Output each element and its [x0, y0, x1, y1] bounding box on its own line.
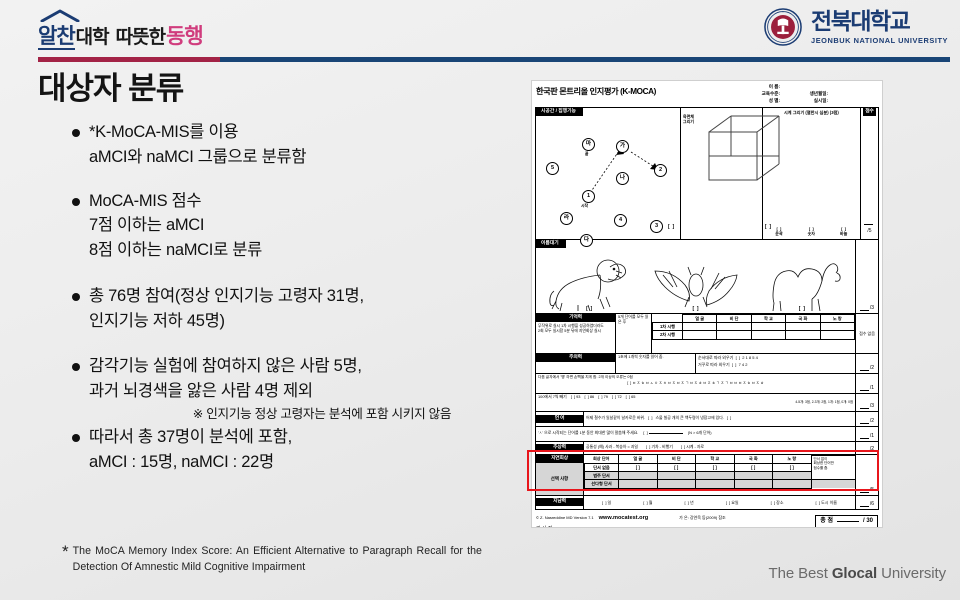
section-attention-tapping: 다음 글자에서 '땡' 하면 손뼉을 치게 함. 2개 이상의 오류는 0점 [… [536, 374, 878, 394]
clock-area: 시계 그리기 (열한시 십분) (3점) [ ]윤곽 [ ]숫자 [ ]바늘 [763, 108, 861, 239]
cube-area: 육면체 그리기 [ ] [681, 108, 763, 239]
abstraction-area: 공통성 (예) 사과 - 복숭아 = 과일 [ ] 기차 - 비행기 [ ] 시… [584, 442, 856, 454]
opt-cell[interactable] [619, 480, 658, 488]
memory-cell[interactable] [683, 331, 717, 339]
repetition-sentence-2: 스물 칠공 개의 큰 백두령이 냉장고에 있다. [655, 416, 723, 421]
opt-cell[interactable] [696, 472, 735, 480]
orientation-day: 일 [608, 500, 612, 505]
page-title: 대상자 분류 [38, 63, 183, 108]
section-header-language: 언 어 [536, 415, 583, 423]
table-row: 선다형 단서 [585, 480, 856, 488]
opt-cell[interactable] [619, 472, 658, 480]
moca-form-title: 한국판 몬트리올 인지평가 (K-MOCA) [536, 84, 750, 105]
memory-cell[interactable] [751, 323, 785, 331]
memory-cell[interactable] [786, 331, 820, 339]
score-column-repetition: /2 [856, 412, 878, 426]
attention-header-area: 주의력 [536, 354, 616, 373]
bullet-1-line-1: *K-MoCA-MIS를 이용 [89, 120, 306, 145]
score-column-serial: /3 [856, 394, 878, 411]
fluency-note: (N > 6개 단어) [688, 431, 712, 436]
digit-backward-label: 거꾸로 따라 외우기 [698, 362, 730, 367]
svg-text:★: ★ [782, 10, 784, 13]
bullet-3-line-1: 총 76명 참여(정상 인지기능 고령자 31명, [89, 284, 364, 309]
id-label-name: 이 름: [750, 84, 780, 90]
recall-row-label-2: 단서 없음 [585, 463, 619, 471]
score-serial: /3 [870, 403, 874, 409]
score-column-delayed-recall: /5 [856, 455, 878, 495]
bullet-3-line-2: 인지기능 저하 45명) [89, 309, 364, 334]
trail-node-ma: 마 [582, 138, 595, 151]
serial-93: 93 [576, 394, 580, 399]
moca-website[interactable]: www.mocatest.org [599, 515, 649, 522]
moca-form-header: 한국판 몬트리올 인지평가 (K-MOCA) 이 름: 교육수준:생년월일: 성… [532, 81, 882, 106]
moca-grid: 시공간 / 집행기능 1 2 3 4 5 가 나 다 라 마 끝 시작 [535, 107, 879, 510]
score-abstraction: /2 [870, 446, 874, 452]
abstraction-item-2: 기차 - 비행기 [651, 444, 672, 449]
tap-letters: ㅂ ㅈ ㅎ ㅂ ㅅ ㅇ ㅈ ㅊ ㅂ ㅈ ㅂ ㅈ ㄱ ㅂ ㅈ ㅎ ㅂ ㅈ ㅎ ㄱ … [632, 381, 763, 385]
memory-sub-2: 2회 모두 실시함 5분 뒤에 지연회상 실시 [538, 329, 613, 335]
tagline: The Best Glocal University [769, 565, 946, 582]
camel-drawing-icon [758, 253, 844, 311]
memory-cell[interactable] [683, 323, 717, 331]
memory-word-5: 노 랑 [820, 314, 854, 322]
moca-korean-credit: 가 은: 강연욱 등(2009) 참조 [679, 515, 726, 520]
clock-mark-outline: 윤곽 [775, 231, 782, 236]
table-row: 회상 단어 얼 굴 비 단 학 교 국 화 노 랑 단서 없이 회상한 단어만 … [585, 455, 856, 463]
orientation-area: [ ] 일 [ ] 월 [ ] 년 [ ] 요일 [ ] 장소 [ ] 도시 이… [584, 496, 856, 509]
section-language-fluency: 'ㅅ' 으로 시작되는 단어를 1분 동안 최대한 많이 말씀해 주세요. [ … [536, 427, 878, 442]
university-emblem-icon: ★ [764, 8, 802, 46]
naming-bracket-camel: [ ] [799, 306, 805, 312]
section-header-abstraction: 추상력 [536, 444, 583, 452]
optional-row-1[interactable]: 범주 단서 [585, 472, 619, 480]
bullet-item-4: 감각기능 실험에 참여하지 않은 사람 5명, 과거 뇌경색을 앓은 사람 4명… [72, 354, 522, 404]
memory-word-1: 얼 굴 [683, 314, 717, 322]
recall-bracket[interactable]: [ ] [696, 463, 735, 471]
score-delayed-recall: /5 [870, 487, 874, 493]
score-fluency: /1 [870, 433, 874, 439]
score-header: 점수 [863, 108, 876, 116]
repetition-sentence-1: 어제 철수가 일날같이 날카로운 바위. [586, 416, 645, 421]
tagline-post: University [877, 565, 946, 582]
recall-word-5: 노 랑 [773, 455, 812, 463]
footnote-text: The MoCA Memory Index Score: An Efficien… [73, 543, 482, 575]
table-row: 1차 시행 [653, 323, 855, 331]
digit-backward-values: 7 4 2 [739, 362, 748, 367]
digit-forward-values: 2 1 8 5 4 [742, 355, 758, 360]
score-column-abstraction: /2 [856, 442, 878, 454]
opt-cell[interactable] [734, 472, 773, 480]
university-name-en: JEONBUK NATIONAL UNIVERSITY [811, 36, 948, 45]
section-header-orientation: 지남력 [536, 498, 583, 506]
score-column-fluency: /1 [856, 427, 878, 441]
bullet-dot-icon [72, 129, 80, 137]
abstraction-example: 공통성 (예) 사과 - 복숭아 = 과일 [586, 445, 638, 450]
brand-donghaeng: 동행 [166, 20, 203, 50]
bullet-2-line-2: 7점 이하는 aMCI [89, 213, 262, 238]
naming-area: 이름대기 [536, 240, 856, 313]
memory-word-table: 얼 굴 비 단 학 교 국 화 노 랑 1차 시행 2차 시행 [652, 314, 856, 353]
recall-word-1: 얼 굴 [619, 455, 658, 463]
memory-cell[interactable] [717, 331, 751, 339]
bullet-5-line-1: 따라서 총 37명이 분석에 포함, [89, 425, 292, 450]
bullet-dot-icon [72, 363, 80, 371]
score-column-orientation: /6 [856, 496, 878, 509]
memory-word-2: 비 단 [717, 314, 751, 322]
serial-79: 79 [604, 394, 608, 399]
moca-id-fields: 이 름: 교육수준:생년월일: 성 별:실시일: [750, 84, 878, 105]
section-header-naming: 이름대기 [536, 240, 566, 249]
section-orientation: 지남력 [ ] 일 [ ] 월 [ ] 년 [ ] 요일 [ ] 장소 [ ] … [536, 496, 878, 509]
score-column-visuospatial: 점수 /5 [861, 108, 878, 239]
attention-instruction: 1초에 1개씩 숫자를 읽어 줌. [616, 354, 696, 373]
footnote: * The MoCA Memory Index Score: An Effici… [62, 543, 482, 575]
bullet-dot-icon [72, 293, 80, 301]
divider-left-segment [38, 57, 220, 62]
bat-drawing-icon [653, 259, 739, 311]
bullet-4-note: ※ 인지기능 정상 고령자는 분석에 포함 시키지 않음 [72, 406, 522, 423]
recall-word-4: 국 화 [734, 455, 773, 463]
moca-form-footer: © Z. Nasreddine MD Version 7.1 www.mocat… [532, 513, 882, 528]
memory-word-4: 국 화 [786, 314, 820, 322]
section-visuospatial: 시공간 / 집행기능 1 2 3 4 5 가 나 다 라 마 끝 시작 [536, 108, 878, 240]
naming-bracket-lion: [ ] [586, 306, 592, 312]
brand-ttatteuthan: 따뜻한 [116, 22, 165, 49]
serial-72: 72 [617, 394, 621, 399]
memory-instruction: 5개 단어를 모두 읽은 후 [616, 314, 651, 353]
brand-daehak: 대학 [76, 22, 109, 49]
serial-86: 86 [590, 394, 594, 399]
orientation-month: 월 [649, 500, 653, 505]
id-label-gender: 성 별: [750, 98, 780, 104]
serial-65: 65 [631, 394, 635, 399]
abstraction-item-3: 시계 - 자로 [686, 444, 704, 449]
recall-bracket[interactable]: [ ] [619, 463, 658, 471]
cube-label-line-2: 그리기 [683, 119, 694, 124]
side-note-3: 점수를 줌. [814, 466, 854, 470]
memory-trial-2[interactable]: 2차 시행 [653, 331, 683, 339]
university-name-kr: 전북대학교 [811, 9, 948, 33]
slide-body: *K-MoCA-MIS를 이용 aMCI와 naMCI 그룹으로 분류함 MoC… [72, 120, 522, 476]
delayed-recall-table: 회상 단어 얼 굴 비 단 학 교 국 화 노 랑 단서 없이 회상한 단어만 … [584, 455, 856, 495]
orientation-weekday: 요일 [731, 500, 738, 505]
clock-label: 시계 그리기 (열한시 십분) (3점) [765, 109, 858, 115]
score-orientation: /6 [870, 501, 874, 507]
note-line-2: 시키지 않음 [392, 407, 452, 421]
score-column-attention-digits: /2 [856, 354, 878, 373]
bullet-5-line-2: aMCI : 15명, naMCI : 22명 [89, 450, 292, 475]
score-attention-digits: /2 [870, 365, 874, 371]
section-naming: 이름대기 [536, 240, 878, 314]
bullet-dot-icon [72, 434, 80, 442]
opt-cell[interactable] [773, 480, 812, 488]
roof-icon [40, 9, 80, 22]
delayed-recall-header-area: 지연회상 선택 사항 [536, 455, 584, 495]
examiner-label: 검 사 자 [536, 526, 553, 528]
memory-cell[interactable] [751, 331, 785, 339]
university-logo: ★ 전북대학교 JEONBUK NATIONAL UNIVERSITY [764, 8, 948, 46]
bullet-item-3: 총 76명 참여(정상 인지기능 고령자 31명, 인지기능 저하 45명) [72, 284, 522, 334]
section-memory: 기억력 무작위로 실시 1차 시행을 성공하였더라도 2회 모두 실시함 5분 … [536, 314, 878, 354]
id-label-education: 교육수준: [750, 91, 780, 97]
section-header-attention: 주의력 [536, 354, 615, 362]
fluency-instruction: 'ㅅ' 으로 시작되는 단어를 1분 동안 최대한 많이 말씀해 주세요. [538, 431, 638, 436]
opt-cell[interactable] [773, 472, 812, 480]
recall-bracket[interactable]: [ ] [773, 463, 812, 471]
trail-node-ra: 라 [560, 212, 573, 225]
trail-node-4: 4 [614, 214, 627, 227]
bullet-2-line-1: MoCA-MIS 점수 [89, 189, 262, 214]
note-line-1: ※ 인지기능 정상 고령자는 분석에 포함 [193, 407, 389, 421]
recall-word-2: 비 단 [657, 455, 696, 463]
orientation-header-area: 지남력 [536, 496, 584, 509]
trail-node-2: 2 [654, 164, 667, 177]
language-header-area: 언 어 [536, 412, 584, 426]
memory-instruction-area: 기억력 무작위로 실시 1차 시행을 성공하였더라도 2회 모두 실시함 5분 … [536, 314, 616, 353]
score-visuospatial: /5 [867, 228, 871, 234]
bullet-4-line-2: 과거 뇌경색을 앓은 사람 4명 제외 [89, 379, 362, 404]
memory-cell[interactable] [786, 323, 820, 331]
table-row: 얼 굴 비 단 학 교 국 화 노 랑 [653, 314, 855, 322]
orientation-year: 년 [690, 500, 694, 505]
section-abstraction: 추상력 공통성 (예) 사과 - 복숭아 = 과일 [ ] 기차 - 비행기 [… [536, 442, 878, 455]
score-tapping: /1 [870, 385, 874, 391]
memory-trial-1[interactable]: 1차 시행 [653, 323, 683, 331]
opt-cell[interactable] [657, 480, 696, 488]
language-repetition-area: 어제 철수가 일날같이 날카로운 바위. [ ] 스물 칠공 개의 큰 백두령이… [584, 412, 856, 426]
section-header-memory: 기억력 [536, 314, 615, 322]
abstraction-header-area: 추상력 [536, 442, 584, 454]
score-column-tapping: /1 [856, 374, 878, 393]
bullet-item-5: 따라서 총 37명이 분석에 포함, aMCI : 15명, naMCI : 2… [72, 425, 522, 475]
score-repetition: /2 [870, 418, 874, 424]
serial-note: 4-5개: 3점, 2-3개: 2점, 1개: 1점, 0개: 0점 [538, 400, 853, 404]
total-score-box: 총 점 / 30 [815, 515, 878, 528]
attention-digit-span: 순서대로 따라 외우기 [ ] 2 1 8 5 4 거꾸로 따라 외우기 [ ]… [696, 354, 856, 373]
bullet-item-1: *K-MoCA-MIS를 이용 aMCI와 naMCI 그룹으로 분류함 [72, 120, 522, 170]
clock-mark-hands: 바늘 [840, 231, 847, 236]
trail-node-3: 3 [650, 220, 663, 233]
score-naming: /3 [870, 305, 874, 311]
id-label-birthdate: 생년월일: [784, 91, 828, 97]
total-score-max: / 30 [863, 518, 873, 526]
recall-bracket[interactable]: [ ] [734, 463, 773, 471]
score-memory: 점수 없음 [859, 331, 875, 336]
moca-form: 한국판 몬트리올 인지평가 (K-MOCA) 이 름: 교육수준:생년월일: 성… [531, 80, 883, 528]
serial-subtraction-area: 100에서 7씩 빼기 [ ] 93 [ ] 86 [ ] 79 [ ] 72 … [536, 394, 856, 411]
orientation-city: 도시 이름 [821, 500, 837, 505]
id-label-testdate: 실시일: [784, 98, 828, 104]
opt-cell[interactable] [696, 480, 735, 488]
footnote-marker: * [62, 543, 69, 560]
digit-forward-label: 순서대로 따라 외우기 [698, 355, 733, 360]
bullet-4-line-1: 감각기능 실험에 참여하지 않은 사람 5명, [89, 354, 362, 379]
trail-score-bracket: [ ] [668, 224, 674, 230]
memory-cell[interactable] [820, 331, 854, 339]
trail-node-na: 나 [616, 172, 629, 185]
title-divider [38, 57, 950, 62]
tagline-pre: The Best [769, 565, 832, 582]
section-delayed-recall: 지연회상 선택 사항 회상 단어 얼 굴 비 단 학 교 국 화 노 랑 단서 … [536, 455, 878, 496]
tagline-bold: Glocal [832, 565, 877, 582]
memory-cell[interactable] [717, 323, 751, 331]
recall-side-note: 단서 없이 회상한 단어만 점수를 줌. [811, 455, 855, 480]
bullet-dot-icon [72, 198, 80, 206]
trail-node-1: 1 [582, 190, 595, 203]
score-column-naming: /3 [856, 240, 878, 313]
total-score-label: 총 점 [820, 518, 833, 526]
recall-row-label-1: 회상 단어 [585, 455, 619, 463]
bullet-2-line-3: 8점 이하는 naMCI로 분류 [89, 238, 262, 263]
section-header-delayed-recall: 지연회상 [536, 455, 583, 463]
recall-word-3: 학 교 [696, 455, 735, 463]
orientation-place: 장소 [776, 500, 783, 505]
clock-mark-numbers: 숫자 [808, 231, 815, 236]
lion-drawing-icon [548, 255, 634, 311]
optional-row-2[interactable]: 선다형 단서 [585, 480, 619, 488]
memory-word-3: 학 교 [751, 314, 785, 322]
brand-alchan: 알찬 [38, 26, 75, 50]
naming-bracket-bat: [ ] [692, 306, 698, 312]
divider-right-segment [220, 57, 950, 62]
bullet-item-2: MoCA-MIS 점수 7점 이하는 aMCI 8점 이하는 naMCI로 분류 [72, 189, 522, 263]
optional-section-header: 선택 사항 [536, 463, 583, 495]
brand-logo: 알찬 대학 따뜻한 동행 [38, 14, 203, 50]
opt-cell[interactable] [657, 472, 696, 480]
moca-copyright: © Z. Nasreddine MD Version 7.1 [536, 515, 594, 520]
attention-tapping-area: 다음 글자에서 '땡' 하면 손뼉을 치게 함. 2개 이상의 오류는 0점 [… [536, 374, 856, 393]
section-language-repetition: 언 어 어제 철수가 일날같이 날카로운 바위. [ ] 스물 칠공 개의 큰 … [536, 412, 878, 427]
trail-making-area: 시공간 / 집행기능 1 2 3 4 5 가 나 다 라 마 끝 시작 [536, 108, 681, 239]
memory-instruction-right: 5개 단어를 모두 읽은 후 [616, 314, 652, 353]
memory-cell[interactable] [820, 323, 854, 331]
fluency-area: 'ㅅ' 으로 시작되는 단어를 1분 동안 최대한 많이 말씀해 주세요. [ … [536, 427, 856, 441]
table-row: 2차 시행 [653, 331, 855, 339]
section-serial-subtraction: 100에서 7씩 빼기 [ ] 93 [ ] 86 [ ] 79 [ ] 72 … [536, 394, 878, 412]
score-column-memory: 점수 없음 [856, 314, 878, 353]
recall-bracket[interactable]: [ ] [657, 463, 696, 471]
trail-label-end: 끝 [585, 152, 589, 157]
serial-label: 100에서 7씩 빼기 [538, 395, 567, 400]
trail-label-start: 시작 [581, 204, 588, 209]
section-attention-digits: 주의력 1초에 1개씩 숫자를 읽어 줌. 순서대로 따라 외우기 [ ] 2 … [536, 354, 878, 374]
trail-node-5: 5 [546, 162, 559, 175]
trail-node-ga: 가 [616, 140, 629, 153]
opt-cell[interactable] [734, 480, 773, 488]
bullet-1-line-2: aMCI와 naMCI 그룹으로 분류함 [89, 145, 306, 170]
